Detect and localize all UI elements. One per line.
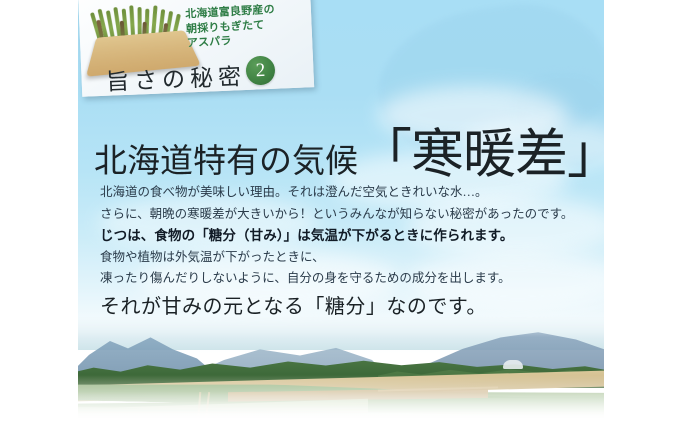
header-card-wrapper: 北海道富良野産の 朝採りもぎたて アスパラ 旨さの秘密 2 [78, 0, 378, 120]
body-line-2: さらに、朝晩の寒暖差が大きいから！というみんなが知らない秘密があったのです。 [100, 204, 600, 226]
body-line-1: 北海道の食べ物が美味しい理由。それは澄んだ空気ときれいな水…。 [100, 182, 600, 204]
body-copy: 北海道の食べ物が美味しい理由。それは澄んだ空気ときれいな水…。 さらに、朝晩の寒… [100, 182, 600, 318]
card-note-text: 北海道富良野産の 朝採りもぎたて アスパラ [185, 0, 317, 51]
body-line-4: 食物や植物は外気温が下がったときに、 [100, 247, 600, 269]
promo-banner: 北海道富良野産の 朝採りもぎたて アスパラ 旨さの秘密 2 北海道特有の気候 「… [78, 0, 604, 421]
body-conclusion: それが甘みの元となる「糖分」なのです。 [100, 297, 600, 319]
headline-lead: 北海道特有の気候 [94, 134, 358, 182]
card-title: 旨さの秘密 [105, 57, 246, 97]
headline-emphasis: 「寒暖差」 [359, 112, 604, 188]
photo-bottom-fade [78, 375, 604, 421]
body-line-5: 凍ったり傷んだりしないように、自分の身を守るための成分を出します。 [100, 268, 600, 290]
body-line-3-emphasis: じつは、食物の「糖分（甘み）」は気温が下がるときに作られます。 [100, 225, 600, 247]
farmland-landscape-photo [78, 316, 604, 421]
page-root: 北海道富良野産の 朝採りもぎたて アスパラ 旨さの秘密 2 北海道特有の気候 「… [0, 0, 680, 421]
page-title: 北海道特有の気候 「寒暖差」 [94, 112, 604, 188]
farm-silo [503, 360, 523, 369]
